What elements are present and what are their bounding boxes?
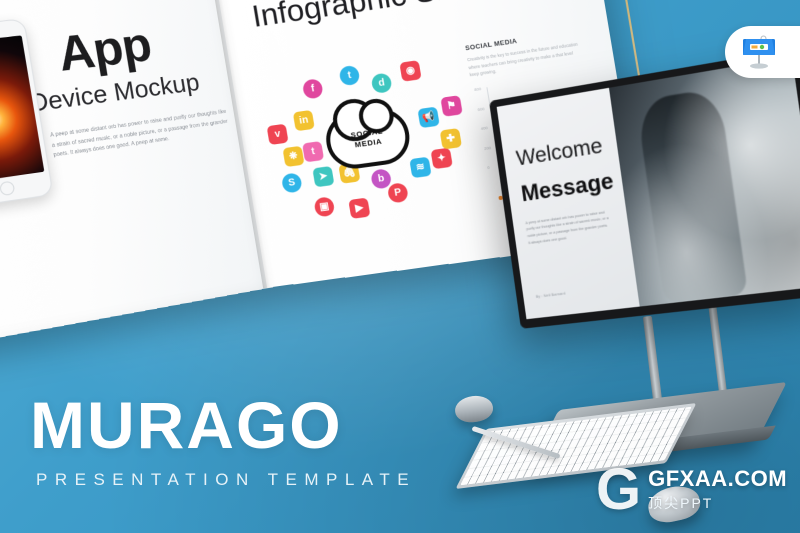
- plus-icon: ✚: [440, 128, 462, 150]
- welcome-title: Welcome: [515, 134, 604, 172]
- telegram-icon: ➤: [312, 166, 334, 187]
- linkedin-icon: in: [293, 110, 315, 131]
- app-body-text: A peep at some distant orb has power to …: [50, 108, 231, 162]
- butterfly-icon: ✦: [430, 148, 452, 170]
- y-axis-tick: 400: [480, 125, 488, 131]
- youtube-icon: ▶: [348, 198, 370, 219]
- watermark-logo-icon: G: [596, 466, 641, 514]
- welcome-byline: By : Neil Barnard: [535, 290, 565, 298]
- y-axis-tick: 800: [474, 86, 482, 92]
- phone-screen: [0, 35, 44, 183]
- cloud-label-line2: MEDIA: [354, 137, 383, 151]
- keynote-badge[interactable]: [725, 26, 800, 78]
- tumblr-icon: t: [302, 141, 324, 162]
- vimeo-icon: v: [267, 124, 289, 145]
- keynote-icon: [739, 33, 779, 71]
- wifi-icon: ≋: [409, 157, 431, 179]
- poster-canvas: App Device Mockup A peep at some distant…: [0, 0, 800, 533]
- flag-icon: ⚑: [440, 95, 462, 117]
- app-heading: App: [54, 15, 155, 82]
- cloud-shape-icon: SOCIAL MEDIA: [322, 105, 414, 172]
- y-axis-tick: 200: [484, 145, 492, 151]
- watermark: G GFXAA.COM 顶尖PPT: [596, 466, 787, 514]
- facebook-icon: f: [302, 78, 324, 100]
- infographic-heading: Infographic Slides: [249, 0, 503, 35]
- athlete-photo: [609, 57, 800, 307]
- welcome-body-text: A peep at some distant orb has power to …: [525, 208, 613, 247]
- megaphone-icon: 📢: [417, 107, 439, 129]
- twitter-icon: t: [338, 65, 360, 87]
- gift-icon: ▣: [313, 196, 335, 217]
- monitor-stand-arm-left: [643, 316, 662, 402]
- watermark-cn-text: 顶尖PPT: [648, 493, 787, 513]
- y-axis-tick: 0: [487, 165, 490, 170]
- smoke-overlay: [609, 57, 800, 307]
- instagram-icon: ◉: [399, 60, 421, 82]
- social-media-cloud-graphic: SOCIAL MEDIA ftd◉inv❋tS➤🖇b▣▶P≋✦📢⚑✚: [255, 41, 480, 237]
- dribbble-icon: d: [370, 72, 392, 94]
- y-axis-tick: 600: [477, 106, 485, 112]
- page-title: MURAGO: [30, 392, 343, 458]
- message-title: Message: [519, 168, 615, 208]
- flickr-icon: ❋: [282, 146, 304, 167]
- watermark-domain: GFXAA.COM: [648, 466, 787, 492]
- app-subheading: Device Mockup: [27, 69, 201, 119]
- puck-speaker: [454, 394, 495, 424]
- phone-home-button-icon: [0, 180, 15, 196]
- skype-icon: S: [281, 172, 303, 193]
- pinterest-icon: P: [387, 182, 409, 203]
- page-subtitle: PRESENTATION TEMPLATE: [36, 470, 416, 490]
